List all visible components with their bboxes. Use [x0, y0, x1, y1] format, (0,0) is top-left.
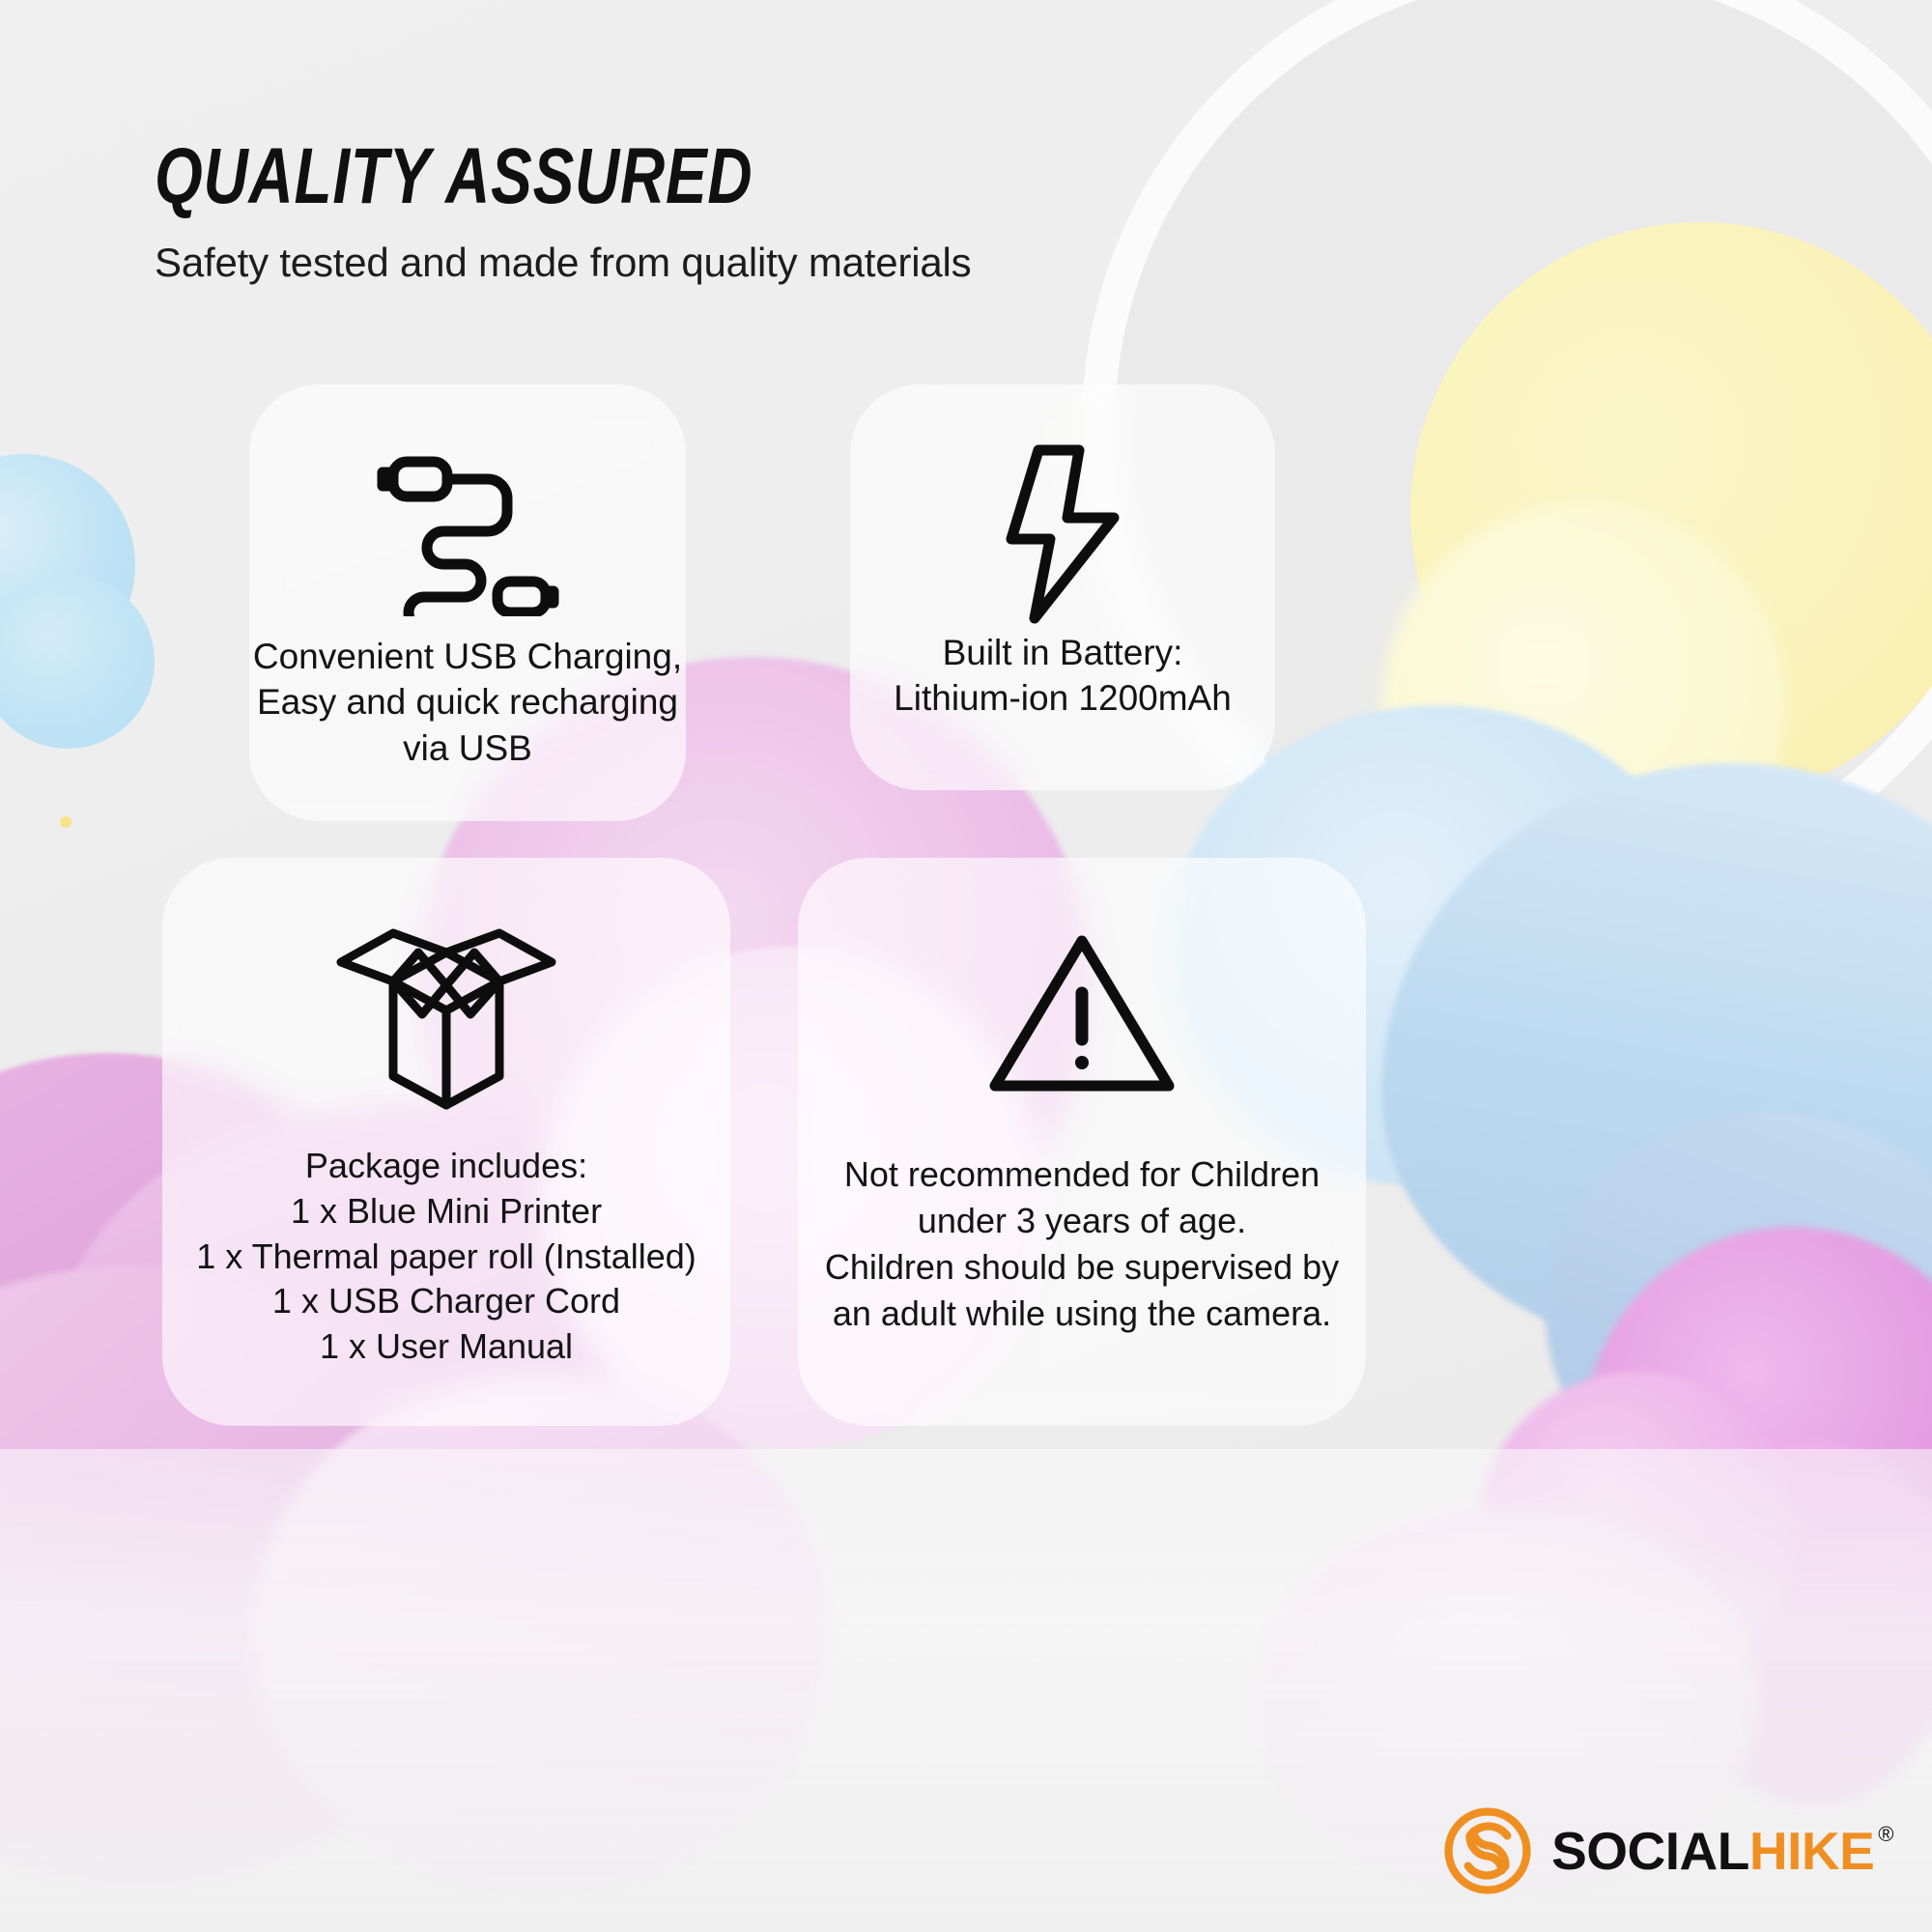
feature-card-usb-charging-text: Convenient USB Charging, Easy and quick … [253, 634, 682, 771]
feature-card-battery: Built in Battery: Lithium-ion 1200mAh [850, 384, 1275, 790]
feature-card-safety-warning: Not recommended for Children under 3 yea… [798, 858, 1366, 1426]
brand-word-social: SOCIAL [1551, 1820, 1749, 1882]
yellow-glow-decor [1381, 502, 1787, 908]
blue-blob-left-top [0, 454, 135, 676]
magenta-blob-3 [1671, 1439, 1932, 1806]
pink-wave-4 [251, 1372, 831, 1893]
feature-card-safety-warning-text: Not recommended for Children under 3 yea… [825, 1151, 1339, 1337]
header-block: QUALITY ASSURED Safety tested and made f… [155, 135, 971, 286]
feature-card-package: Package includes: 1 x Blue Mini Printer … [162, 858, 730, 1426]
page-subtitle: Safety tested and made from quality mate… [155, 240, 971, 286]
blue-blob-right-2 [1381, 763, 1932, 1362]
usb-cable-icon [249, 384, 686, 626]
feature-card-usb-charging: Convenient USB Charging, Easy and quick … [249, 384, 686, 821]
blue-blob-left-bottom [0, 575, 155, 749]
open-box-icon [162, 858, 730, 1138]
registered-mark: ® [1878, 1822, 1893, 1847]
poster-canvas: QUALITY ASSURED Safety tested and made f… [0, 0, 1932, 1932]
blue-blob-right-3 [1546, 1111, 1932, 1517]
brand-wordmark: SOCIALHIKE® [1551, 1820, 1893, 1882]
socialhike-spiral-icon [1443, 1806, 1532, 1895]
yellow-circle-decor [1410, 222, 1932, 802]
brand-logo[interactable]: SOCIALHIKE® [1443, 1806, 1893, 1895]
warning-triangle-icon [798, 858, 1366, 1128]
magenta-blob-2 [1478, 1372, 1797, 1690]
page-title: QUALITY ASSURED [155, 135, 791, 218]
brand-word-hike: HIKE [1749, 1820, 1874, 1882]
feature-card-battery-text: Built in Battery: Lithium-ion 1200mAh [894, 630, 1232, 722]
feature-card-package-text: Package includes: 1 x Blue Mini Printer … [196, 1144, 696, 1370]
lightning-bolt-icon [850, 384, 1275, 626]
yellow-dot-decor-1 [60, 816, 71, 828]
magenta-blob-1 [1584, 1227, 1932, 1642]
